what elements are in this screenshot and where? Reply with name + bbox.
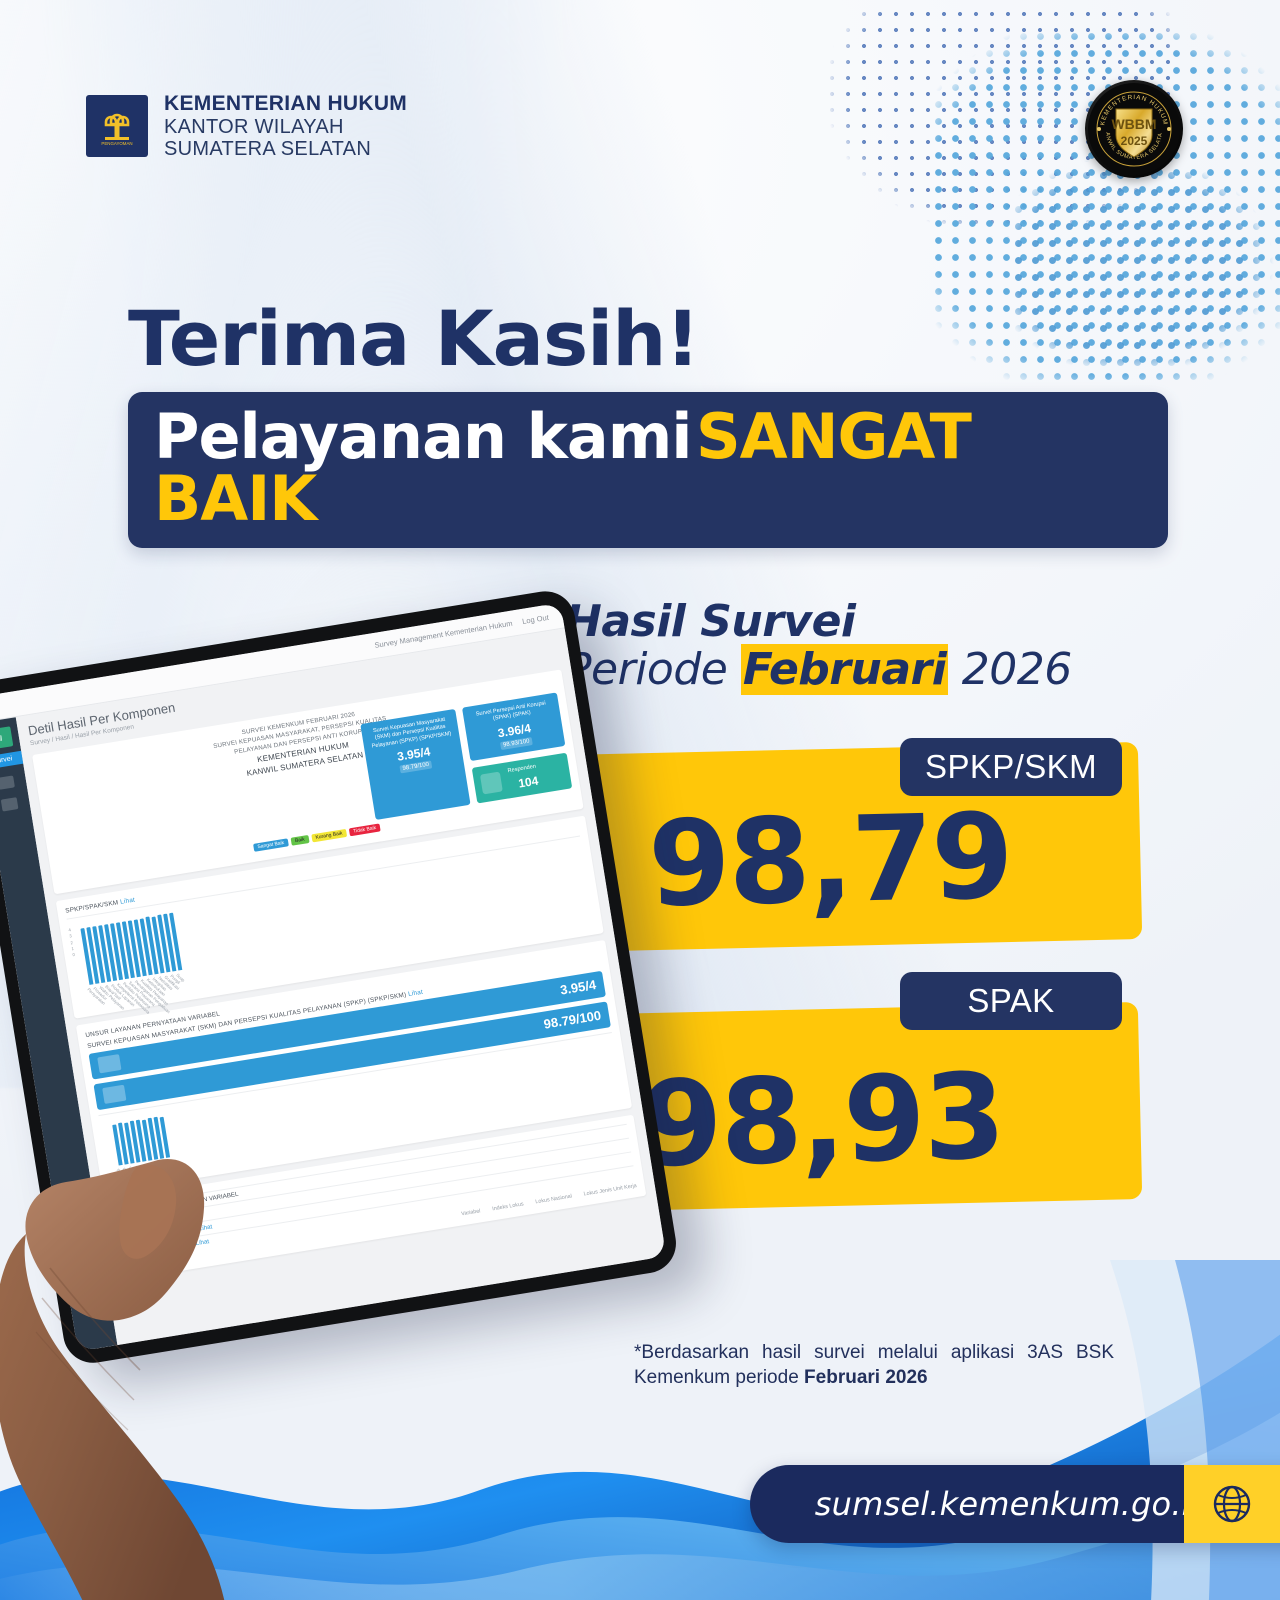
legend-sangat-baik: Sangat Baik [253, 838, 289, 851]
table-header-1: Indeks Lokus [492, 1201, 524, 1212]
x-axis-label: Pungli [169, 973, 175, 979]
survey-title-block: Hasil Survei Periode Februari 2026 [565, 598, 1185, 695]
x-axis-label: Integritas [152, 976, 158, 982]
x-axis-label: Netralitas [157, 975, 163, 981]
sidebar-brand-label: Survei [0, 751, 23, 770]
x-axis-label: Prosedur [92, 986, 98, 992]
shuffle-icon[interactable] [1, 797, 19, 811]
x-axis-label: Kompetensi Pelaksana [116, 982, 122, 988]
x-axis-label: Perilaku Pelaksana [122, 981, 128, 987]
grid-icon[interactable] [0, 775, 15, 789]
kpi-value-responden: 104 [509, 774, 539, 792]
svg-text:PENGAYOMAN: PENGAYOMAN [101, 141, 132, 146]
brand-header: PENGAYOMAN KEMENTERIAN HUKUM KANTOR WILA… [86, 92, 407, 160]
headline-band: Pelayanan kami SANGAT BAIK [128, 392, 1168, 548]
poster-canvas: PENGAYOMAN KEMENTERIAN HUKUM KANTOR WILA… [0, 0, 1280, 1600]
x-axis-label: Biaya/Tarif [104, 984, 110, 990]
bar-chart-icon-2 [102, 1085, 126, 1104]
bar-chart-icon [97, 1054, 121, 1073]
svg-text:WBBM: WBBM [1111, 116, 1156, 132]
legend-baik: Baik [290, 835, 309, 846]
score-chip-spak: SPAK [900, 972, 1122, 1030]
legend-tidak-baik: Tidak Baik [349, 823, 381, 836]
survey-periode-year: 2026 [948, 644, 1071, 695]
brand-line-1: KEMENTERIAN HUKUM [164, 92, 407, 116]
survey-title-line1: Hasil Survei [565, 598, 1185, 646]
table-header-3: Lokus Jenis Unit Kerja [583, 1183, 637, 1197]
kpi-sub-spkp-skm: 98.79/100 [399, 760, 433, 773]
table-header-2: Lokus Nasional [535, 1193, 572, 1205]
kpi-sub-spak: 98.93/100 [500, 737, 534, 750]
pengayoman-logo-icon: PENGAYOMAN [86, 95, 148, 157]
svg-text:2025: 2025 [1121, 134, 1148, 148]
x-axis-label: Kualitas Pelayanan [140, 978, 146, 984]
wbbm-award-badge: KEMENTERIAN HUKUM KANWIL SUMATERA SELATA… [1085, 80, 1183, 178]
survey-periode-month: Februari [741, 644, 948, 695]
brand-line-2: KANTOR WILAYAH [164, 116, 407, 138]
footnote: *Berdasarkan hasil survei melalui aplika… [634, 1340, 1114, 1390]
x-axis-label: Suap [175, 972, 181, 978]
hand-holding-tablet [0, 1148, 320, 1600]
headline-thanks: Terima Kasih! [128, 300, 1168, 378]
footnote-period: Februari 2026 [804, 1367, 928, 1388]
brand-line-3: SUMATERA SELATAN [164, 138, 407, 160]
responden-icon [480, 771, 503, 794]
section3-link[interactable]: Lihat [408, 989, 424, 998]
kpi-card-spkp-skm: Survei Kepuasan Masyarakat (SKM) dan Per… [360, 709, 470, 820]
table-header-0: Variabel [461, 1208, 481, 1217]
headline-block: Terima Kasih! Pelayanan kami SANGAT BAIK [128, 300, 1168, 548]
legend-kurang-baik: Kurang Baik [311, 829, 347, 843]
score-value-spkp-skm: 98,79 [647, 797, 1013, 923]
x-axis-label: Persyaratan [86, 987, 92, 993]
logout-button[interactable]: Log Out [522, 613, 550, 626]
survey-title-line2: Periode Februari 2026 [565, 646, 1185, 694]
x-axis-label: Gratifikasi [163, 974, 169, 980]
banner-index-value: 3.95/4 [559, 977, 597, 998]
banner-score-value: 98.79/100 [543, 1008, 602, 1032]
sidebar-logo-icon: ▤ [0, 726, 13, 750]
globe-icon [1184, 1465, 1280, 1543]
x-axis-label: Produk Layanan [110, 983, 116, 989]
x-axis-label: Waktu Pelayanan [98, 985, 104, 991]
score-chip-spkp-skm: SPKP/SKM [900, 738, 1122, 796]
chart-section-link[interactable]: Lihat [120, 897, 136, 906]
